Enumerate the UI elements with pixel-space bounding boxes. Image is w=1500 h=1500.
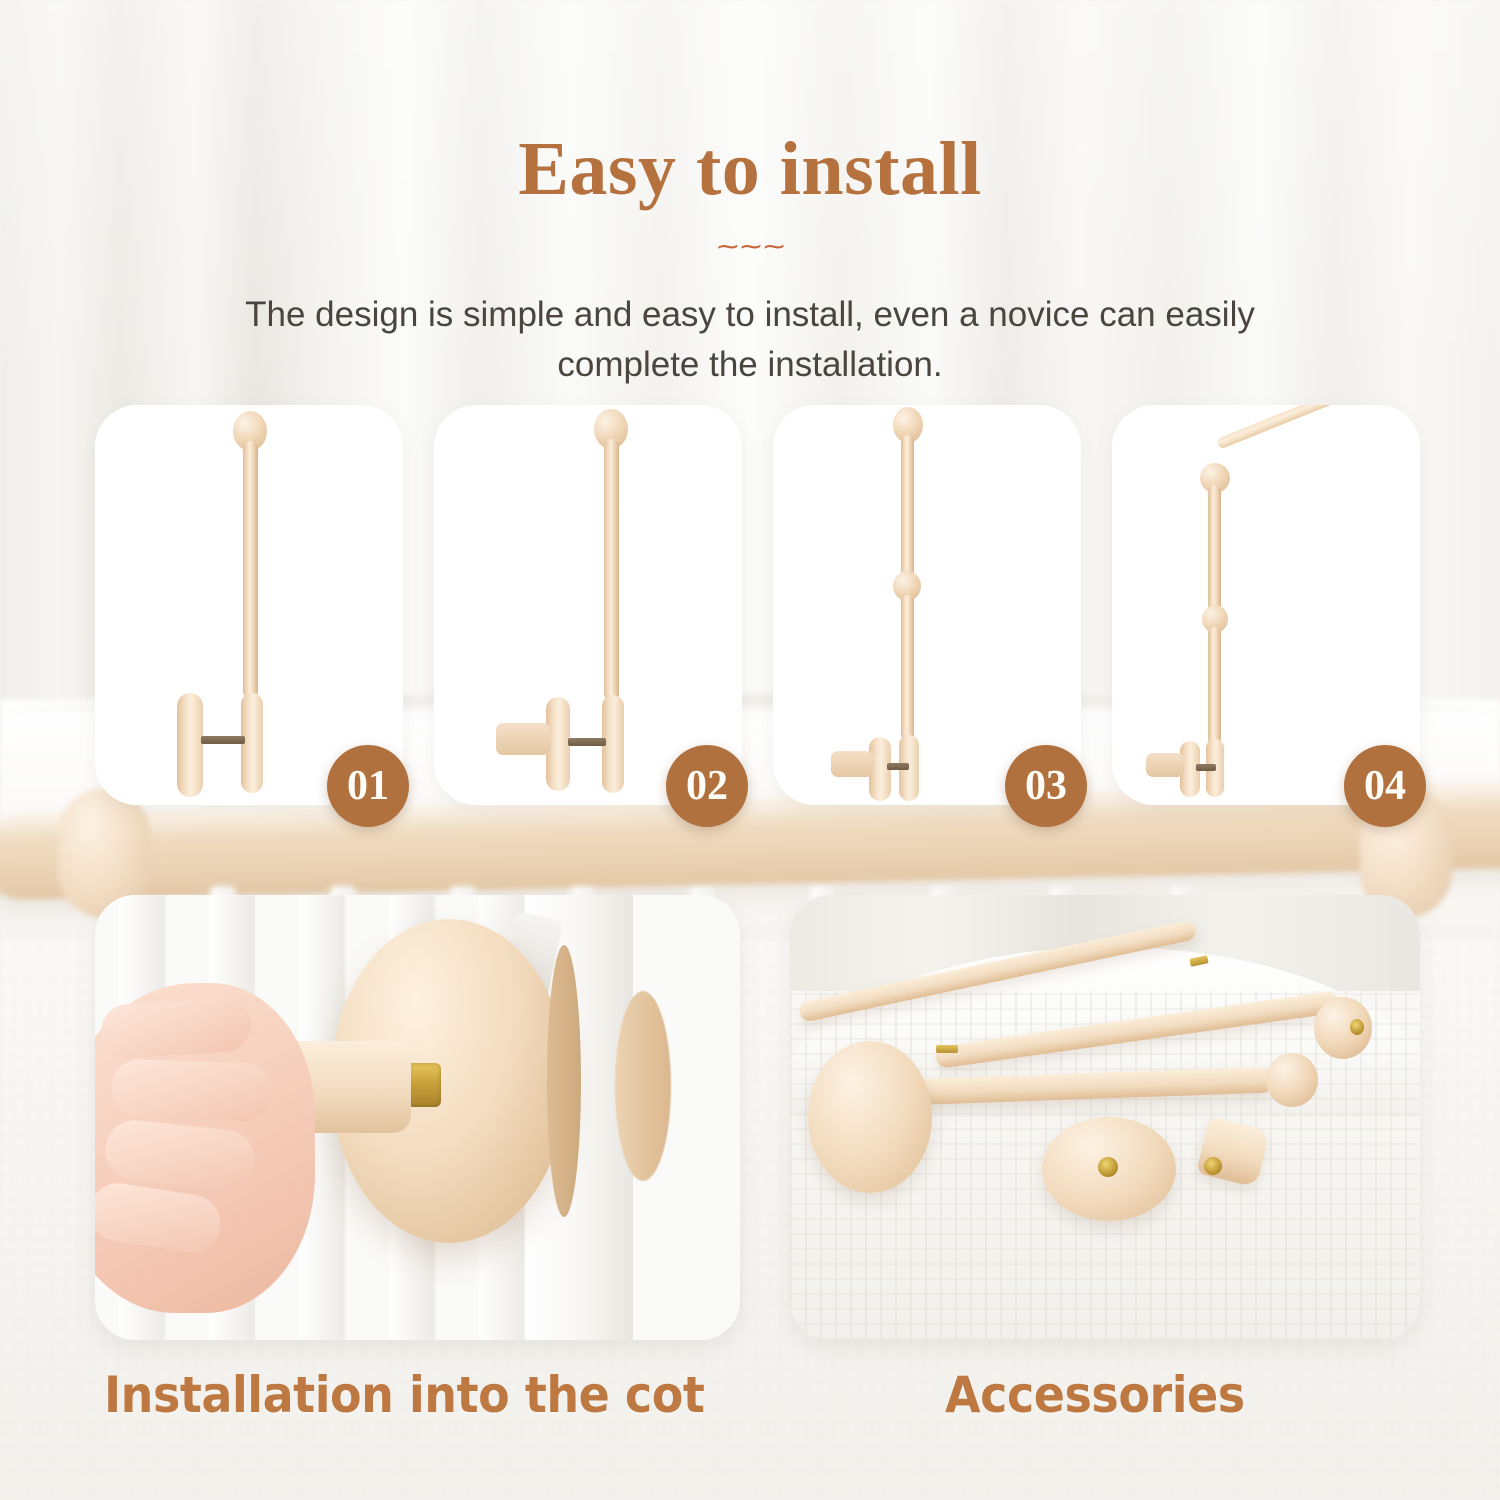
brass-insert-icon [1204, 1157, 1222, 1175]
loose-disc-icon [177, 693, 203, 797]
bolt-pin-icon [1196, 764, 1216, 771]
upper-rod-icon [901, 435, 914, 579]
horizontal-arm-icon [1216, 405, 1420, 450]
lower-rod-icon [901, 595, 914, 741]
step-illustration-03 [773, 405, 1081, 805]
brass-screw-icon [1350, 1019, 1364, 1035]
step-card-03[interactable]: 03 [773, 405, 1081, 805]
step-badge-04: 04 [1344, 745, 1426, 827]
photo-accessories[interactable] [790, 895, 1420, 1340]
step-badge-01: 01 [327, 745, 409, 827]
brass-insert-icon [1098, 1157, 1118, 1177]
step-badge-02: 02 [666, 745, 748, 827]
brass-tip-icon [936, 1045, 958, 1053]
side-wood-piece [615, 991, 671, 1181]
caption-installation-into-the-cot: Installation into the cot [104, 1366, 704, 1424]
step-card-01[interactable]: 01 [95, 405, 403, 805]
brass-screw-icon [407, 1063, 441, 1107]
infographic-page: Easy to install ~~~ The design is simple… [0, 0, 1500, 1500]
squiggle-divider-icon: ~~~ [0, 236, 1500, 258]
bolt-pin-icon [568, 738, 606, 746]
page-title: Easy to install [0, 126, 1500, 213]
finger [99, 996, 252, 1060]
upper-rod-icon [1208, 485, 1221, 613]
header: Easy to install ~~~ The design is simple… [0, 0, 1500, 389]
step-badge-03: 03 [1005, 745, 1087, 827]
caption-accessories: Accessories [945, 1366, 1245, 1424]
accessory-large-disc [808, 1041, 932, 1193]
hand [95, 983, 315, 1313]
step-illustration-02 [434, 405, 742, 805]
finger [110, 1058, 274, 1122]
wooden-peg-icon [496, 723, 550, 755]
accessory-knob-end [1266, 1053, 1318, 1107]
wooden-peg-icon [1146, 753, 1184, 777]
wooden-peg-icon [831, 751, 873, 777]
vertical-rod-icon [243, 441, 258, 699]
photo-installation-into-the-cot[interactable] [95, 895, 740, 1340]
finger [95, 1179, 225, 1257]
step-illustration-04 [1112, 405, 1420, 805]
vertical-rod-icon [604, 439, 619, 701]
page-subtitle: The design is simple and easy to install… [185, 290, 1315, 389]
step-illustration-01 [95, 405, 403, 805]
photo-panels [95, 895, 1420, 1340]
lower-rod-icon [1208, 627, 1221, 745]
bolt-pin-icon [201, 736, 245, 744]
finger [102, 1117, 257, 1192]
step-card-02[interactable]: 02 [434, 405, 742, 805]
bolt-pin-icon [887, 763, 909, 770]
step-cards: 01 02 [95, 405, 1420, 805]
step-card-04[interactable]: 04 [1112, 405, 1420, 805]
